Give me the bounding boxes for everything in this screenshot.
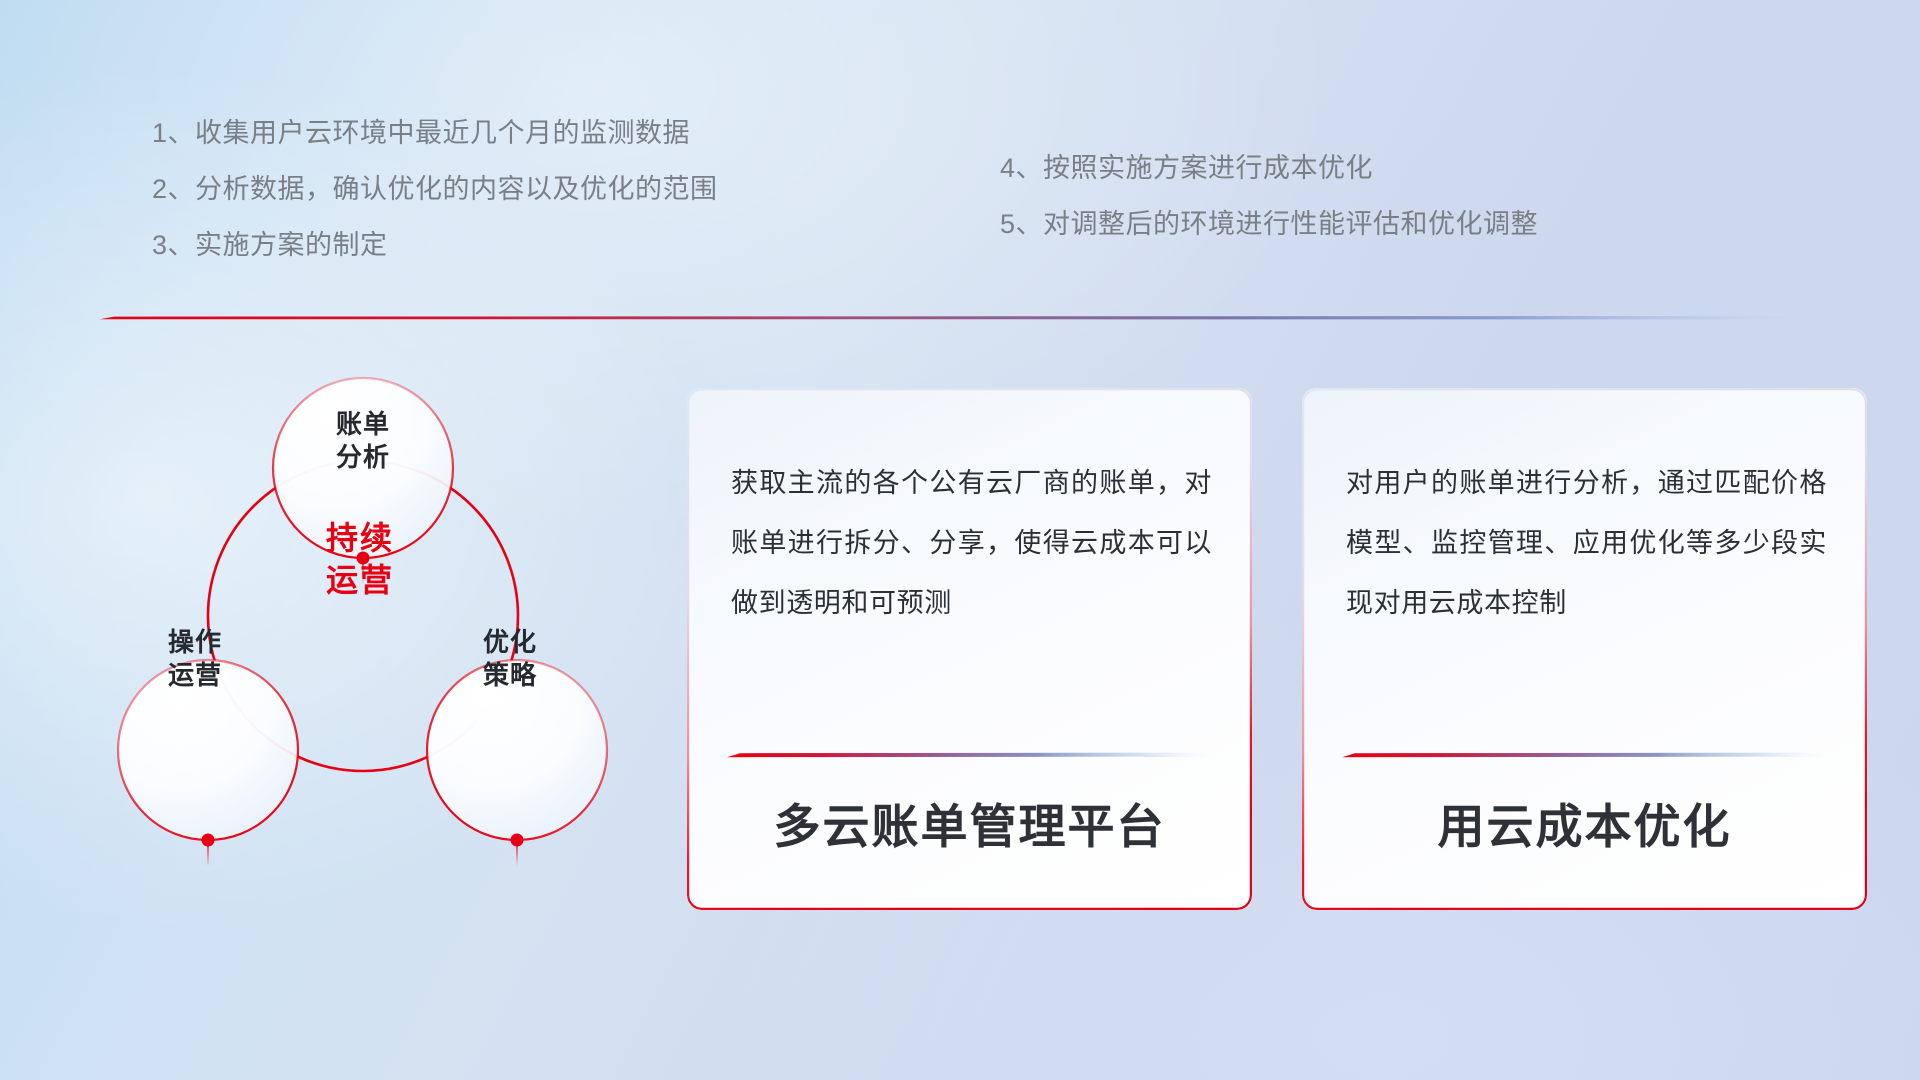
step-item: 1、收集用户云环境中最近几个月的监测数据	[152, 120, 718, 147]
venn-dot-bottom-left	[202, 834, 215, 847]
steps-right-column: 4、按照实施方案进行成本优化 5、对调整后的环境进行性能评估和优化调整	[1000, 155, 1538, 238]
venn-bubble-bottom-left	[118, 660, 298, 840]
step-item: 4、按照实施方案进行成本优化	[1000, 155, 1538, 182]
card-divider-line	[727, 750, 1212, 760]
card-body-text: 对用户的账单进行分析，通过匹配价格模型、监控管理、应用优化等多少段实现对用云成本…	[1346, 454, 1827, 634]
venn-svg	[80, 350, 660, 950]
card-body-text: 获取主流的各个公有云厂商的账单，对账单进行拆分、分享，使得云成本可以做到透明和可…	[731, 454, 1212, 634]
card-multicloud-billing-platform[interactable]: 获取主流的各个公有云厂商的账单，对账单进行拆分、分享，使得云成本可以做到透明和可…	[687, 388, 1252, 910]
card-title: 用云成本优化	[1302, 788, 1867, 857]
steps-left-column: 1、收集用户云环境中最近几个月的监测数据 2、分析数据，确认优化的内容以及优化的…	[152, 120, 718, 259]
card-cloud-cost-optimization[interactable]: 对用户的账单进行分析，通过匹配价格模型、监控管理、应用优化等多少段实现对用云成本…	[1302, 388, 1867, 910]
venn-dot-top	[357, 552, 370, 565]
card-divider-line	[1342, 750, 1827, 760]
step-item: 3、实施方案的制定	[152, 232, 718, 259]
venn-dot-bottom-right	[511, 834, 524, 847]
venn-diagram: 账单 分析 操作 运营 优化 策略 持续 运营	[80, 350, 660, 950]
venn-bubble-top	[273, 378, 453, 558]
step-item: 5、对调整后的环境进行性能评估和优化调整	[1000, 211, 1538, 238]
slide-canvas: 1、收集用户云环境中最近几个月的监测数据 2、分析数据，确认优化的内容以及优化的…	[0, 0, 1920, 1080]
venn-bubble-bottom-right	[427, 660, 607, 840]
step-item: 2、分析数据，确认优化的内容以及优化的范围	[152, 176, 718, 203]
card-title: 多云账单管理平台	[687, 788, 1252, 857]
section-divider-line	[100, 313, 1800, 323]
